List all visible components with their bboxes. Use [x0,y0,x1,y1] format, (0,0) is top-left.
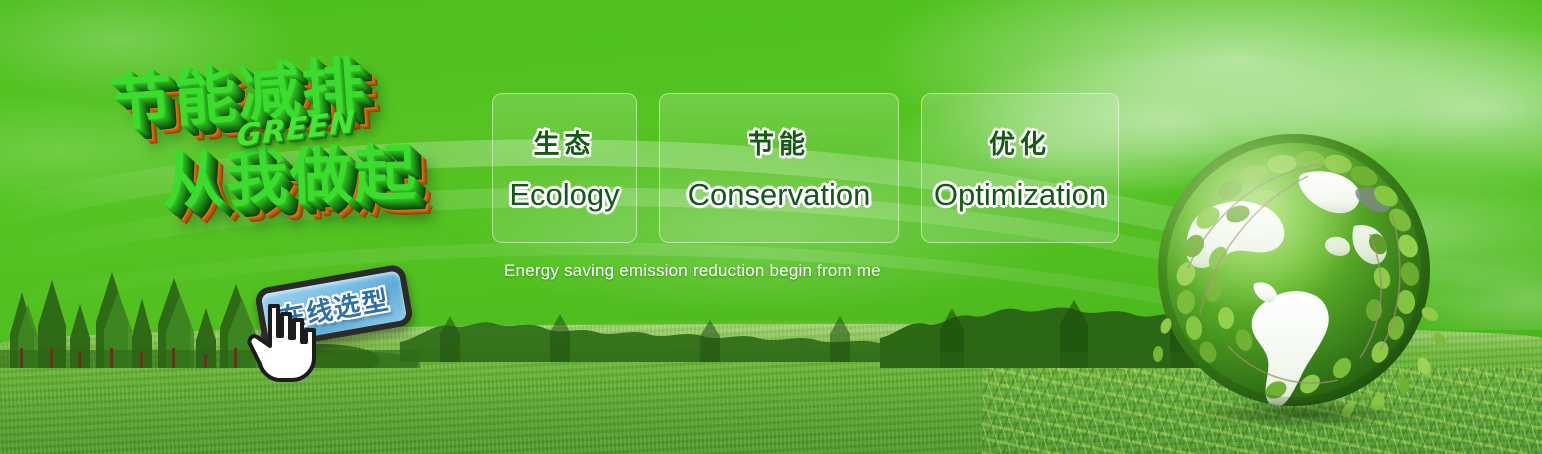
feature-card-en-label: Conservation [688,177,871,213]
eco-promo-banner: 节能减排 从我做起 GREEN 在线选型 生态 Ecology 节能 Conse… [0,0,1542,454]
leaf-covered-globe-icon [1142,118,1452,428]
pointing-hand-cursor-icon [240,292,326,384]
banner-tagline: Energy saving emission reduction begin f… [504,261,881,281]
logo-line-2-text: 从我做起 [161,136,419,218]
feature-card-ecology[interactable]: 生态 Ecology [492,93,637,243]
feature-card-cn-label: 优化 [989,124,1051,161]
feature-card-optimization[interactable]: 优化 Optimization [921,93,1119,243]
logo-3d-slogan: 节能减排 从我做起 GREEN [92,21,497,278]
globe-svg [1142,118,1452,428]
feature-card-en-label: Optimization [934,177,1106,213]
feature-card-list: 生态 Ecology 节能 Conservation 优化 Optimizati… [492,93,1119,243]
feature-card-cn-label: 生态 [533,124,595,161]
feature-card-conservation[interactable]: 节能 Conservation [659,93,899,243]
feature-card-cn-label: 节能 [748,124,810,161]
feature-card-en-label: Ecology [509,177,619,213]
globe-shadow [1152,394,1452,434]
